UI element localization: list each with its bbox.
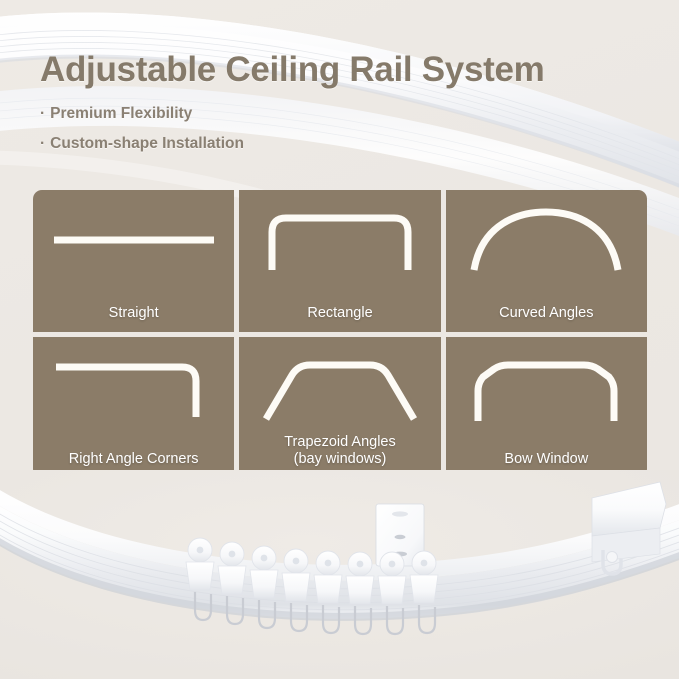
shape-cell-trapezoid-angles: Trapezoid Angles (bay windows) <box>239 337 440 479</box>
bow-rail-icon <box>446 347 647 431</box>
bullet-marker-icon: · <box>40 135 45 153</box>
glider <box>378 552 406 634</box>
flexible-ceiling-curtain-track <box>0 470 679 679</box>
feature-bullet-1-label: Premium Flexibility <box>50 105 192 122</box>
feature-bullet-list: ·Premium Flexibility ·Custom-shape Insta… <box>40 105 460 165</box>
shape-cell-curved-angles: Curved Angles <box>446 190 647 332</box>
track-end-cap <box>592 482 666 562</box>
product-infographic: Adjustable Ceiling Rail System ·Premium … <box>0 0 679 679</box>
shape-cell-trapezoid-angles-caption: Trapezoid Angles (bay windows) <box>239 434 440 468</box>
glider <box>186 538 214 620</box>
straight-line-icon <box>33 196 234 280</box>
end-hook-icon <box>603 550 621 574</box>
shape-label: Right Angle Corners <box>69 451 199 467</box>
shape-cell-rectangle: Rectangle <box>239 190 440 332</box>
shape-label: Rectangle <box>307 305 372 321</box>
ceiling-bracket <box>376 504 424 566</box>
shape-label: Trapezoid Angles <box>284 434 396 450</box>
glider <box>410 551 438 633</box>
rectangle-rail-icon <box>239 196 440 280</box>
shape-cell-curved-angles-caption: Curved Angles <box>446 305 647 322</box>
shape-cell-bow-window-caption: Bow Window <box>446 451 647 468</box>
glider-row <box>186 538 438 634</box>
feature-bullet-2: ·Custom-shape Installation <box>40 135 460 153</box>
shape-cell-bow-window: Bow Window <box>446 337 647 479</box>
bullet-marker-icon: · <box>40 105 45 123</box>
shape-cell-straight-caption: Straight <box>33 305 234 322</box>
trapezoid-rail-icon <box>239 347 440 431</box>
shape-sublabel: (bay windows) <box>239 451 440 468</box>
shape-label: Curved Angles <box>499 305 593 321</box>
shape-cell-right-angle-corners-caption: Right Angle Corners <box>33 451 234 468</box>
shape-cell-right-angle-corners: Right Angle Corners <box>33 337 234 479</box>
feature-bullet-1: ·Premium Flexibility <box>40 105 460 123</box>
glider <box>250 546 278 628</box>
page-title: Adjustable Ceiling Rail System <box>40 50 544 90</box>
glider <box>314 551 342 633</box>
shape-cell-rectangle-caption: Rectangle <box>239 305 440 322</box>
glider <box>346 552 374 634</box>
shape-label: Straight <box>109 305 159 321</box>
shape-label: Bow Window <box>504 451 588 467</box>
shape-cell-straight: Straight <box>33 190 234 332</box>
feature-bullet-2-label: Custom-shape Installation <box>50 135 244 152</box>
glider <box>218 542 246 624</box>
shape-options-grid: Straight Rectangle Curved Angles <box>33 190 647 478</box>
arc-rail-icon <box>446 196 647 280</box>
glider <box>282 549 310 631</box>
l-corner-rail-icon <box>33 347 234 431</box>
